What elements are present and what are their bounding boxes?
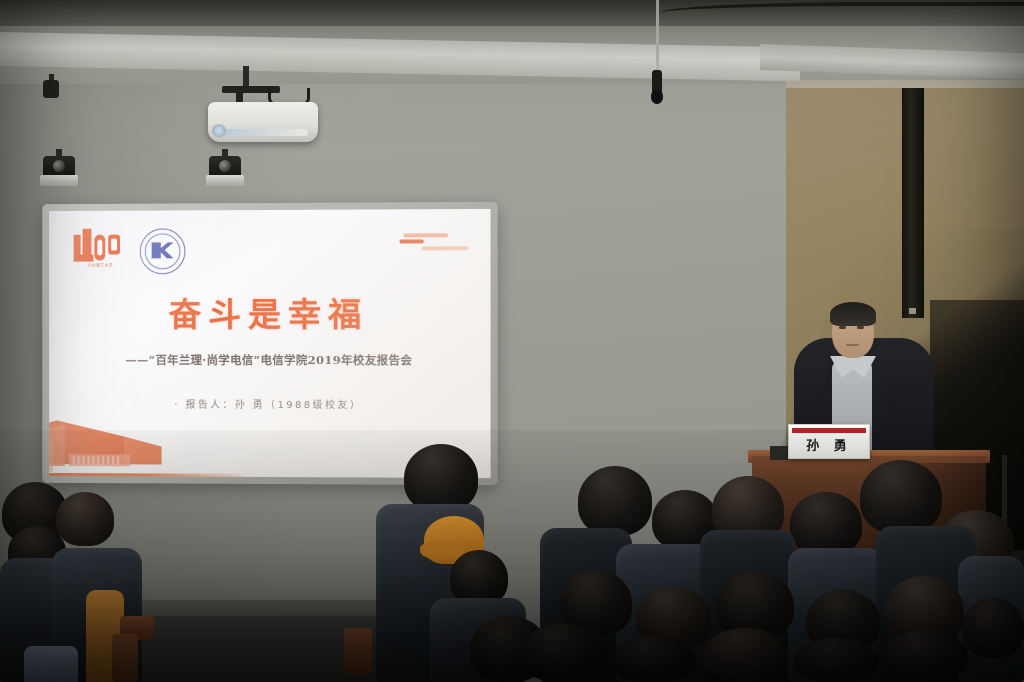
anniversary-logo-caption: 兰州理工大学 [74, 262, 127, 268]
presenter-mouth [846, 344, 859, 346]
projector-mount [243, 66, 249, 88]
presenter-hair [830, 302, 876, 326]
university-seal-icon [140, 228, 186, 274]
list-item [702, 628, 788, 682]
list-item [794, 638, 878, 682]
projector-lens [212, 124, 226, 137]
hanging-microphone-cable [656, 0, 659, 72]
audience-area [0, 430, 1024, 682]
list-item [578, 466, 652, 536]
list-item [860, 460, 942, 534]
orange-cap-brim [420, 542, 464, 560]
list-item [112, 634, 138, 682]
anniversary-100-logo: 兰州理工大学 [74, 229, 123, 271]
list-item [24, 646, 78, 682]
hanging-microphone-capsule [651, 90, 663, 104]
list-item [404, 444, 478, 512]
list-item [520, 624, 606, 682]
security-camera-icon [41, 74, 61, 100]
decorative-bars-icon [399, 233, 468, 255]
ptz-camera-icon [40, 156, 78, 188]
list-item [344, 628, 372, 674]
presenter-eye-left [839, 326, 846, 329]
ceiling-rail [660, 2, 1024, 20]
lecture-hall-photo: 兰州理工大学 奋斗是幸福 ——“百年兰理·尚学电信”电信学院2019年校友报告会… [0, 0, 1024, 682]
projector-icon [208, 102, 318, 142]
presenter-eye-right [857, 326, 864, 329]
list-item [612, 636, 696, 682]
list-item [880, 630, 968, 682]
list-item [790, 492, 862, 556]
slide-subtitle: ——“百年兰理·尚学电信”电信学院2019年校友报告会 [49, 352, 490, 368]
slide-title: 奋斗是幸福 [49, 288, 490, 337]
ptz-camera-icon [206, 156, 244, 188]
list-item [56, 492, 114, 546]
list-item [962, 598, 1024, 658]
